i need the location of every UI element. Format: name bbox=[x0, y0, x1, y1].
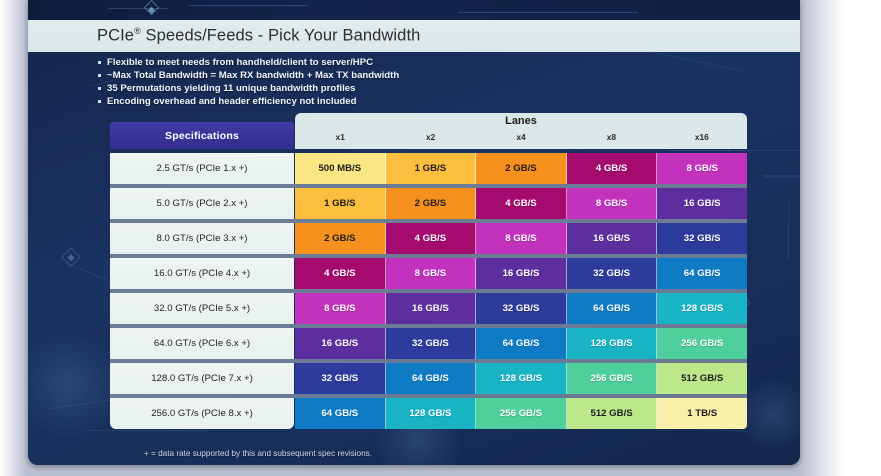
top-accent-band bbox=[28, 0, 800, 20]
bandwidth-cells: 2 GB/S4 GB/S8 GB/S16 GB/S32 GB/S bbox=[295, 223, 747, 254]
bandwidth-cell: 128 GB/S bbox=[476, 363, 567, 394]
bandwidth-cell: 128 GB/S bbox=[386, 398, 477, 429]
table-row: 16.0 GT/s (PCIe 4.x +)4 GB/S8 GB/S16 GB/… bbox=[110, 254, 747, 289]
table-header: Specifications Lanes x1x2x4x8x16 bbox=[110, 113, 747, 149]
bandwidth-cell: 32 GB/S bbox=[657, 223, 747, 254]
bandwidth-cell: 256 GB/S bbox=[567, 363, 658, 394]
bandwidth-cell: 32 GB/S bbox=[386, 328, 477, 359]
list-item: 35 Permutations yielding 11 unique bandw… bbox=[98, 83, 399, 95]
lane-column-header-x1: x1 bbox=[295, 132, 385, 142]
list-item: Encoding overhead and header efficiency … bbox=[98, 96, 399, 108]
list-item: Flexible to meet needs from handheld/cli… bbox=[98, 57, 399, 69]
bandwidth-cell: 500 MB/S bbox=[295, 153, 386, 184]
bandwidth-cell: 16 GB/S bbox=[567, 223, 658, 254]
bandwidth-cell: 256 GB/S bbox=[657, 328, 747, 359]
bandwidth-cell: 64 GB/S bbox=[295, 398, 386, 429]
bandwidth-table: Specifications Lanes x1x2x4x8x16 2.5 GT/… bbox=[110, 113, 747, 429]
bandwidth-cell: 64 GB/S bbox=[657, 258, 747, 289]
registered-mark: ® bbox=[134, 26, 141, 36]
list-item: ~Max Total Bandwidth = Max RX bandwidth … bbox=[98, 70, 399, 82]
page-title: PCIe® Speeds/Feeds - Pick Your Bandwidth bbox=[28, 26, 420, 46]
bandwidth-cells: 16 GB/S32 GB/S64 GB/S128 GB/S256 GB/S bbox=[295, 328, 747, 359]
bandwidth-cell: 1 TB/S bbox=[657, 398, 747, 429]
bandwidth-cell: 8 GB/S bbox=[567, 188, 658, 219]
bandwidth-cells: 8 GB/S16 GB/S32 GB/S64 GB/S128 GB/S bbox=[295, 293, 747, 324]
table-row: 5.0 GT/s (PCIe 2.x +)1 GB/S2 GB/S4 GB/S8… bbox=[110, 184, 747, 219]
specifications-header: Specifications bbox=[110, 122, 294, 149]
spec-cell: 64.0 GT/s (PCIe 6.x +) bbox=[110, 328, 294, 359]
bandwidth-cell: 32 GB/S bbox=[295, 363, 386, 394]
bandwidth-cell: 2 GB/S bbox=[386, 188, 477, 219]
bandwidth-cell: 256 GB/S bbox=[476, 398, 567, 429]
bandwidth-cell: 32 GB/S bbox=[567, 258, 658, 289]
table-body: 2.5 GT/s (PCIe 1.x +)500 MB/S1 GB/S2 GB/… bbox=[110, 149, 747, 429]
lane-column-header-x16: x16 bbox=[657, 132, 747, 142]
bandwidth-cell: 512 GB/S bbox=[657, 363, 747, 394]
bandwidth-cell: 4 GB/S bbox=[567, 153, 658, 184]
bandwidth-cell: 2 GB/S bbox=[476, 153, 567, 184]
footnote: + = data rate supported by this and subs… bbox=[144, 449, 372, 458]
bandwidth-cells: 32 GB/S64 GB/S128 GB/S256 GB/S512 GB/S bbox=[295, 363, 747, 394]
table-row: 32.0 GT/s (PCIe 5.x +)8 GB/S16 GB/S32 GB… bbox=[110, 289, 747, 324]
bandwidth-cells: 64 GB/S128 GB/S256 GB/S512 GB/S1 TB/S bbox=[295, 398, 747, 429]
table-row: 64.0 GT/s (PCIe 6.x +)16 GB/S32 GB/S64 G… bbox=[110, 324, 747, 359]
bandwidth-cell: 128 GB/S bbox=[567, 328, 658, 359]
bandwidth-cell: 1 GB/S bbox=[386, 153, 477, 184]
page-title-rest: Speeds/Feeds - Pick Your Bandwidth bbox=[141, 27, 421, 45]
lane-column-headers: x1x2x4x8x16 bbox=[295, 132, 747, 142]
bandwidth-cell: 8 GB/S bbox=[657, 153, 747, 184]
bandwidth-cell: 16 GB/S bbox=[295, 328, 386, 359]
table-row: 2.5 GT/s (PCIe 1.x +)500 MB/S1 GB/S2 GB/… bbox=[110, 149, 747, 184]
bandwidth-cell: 32 GB/S bbox=[476, 293, 567, 324]
bandwidth-cell: 4 GB/S bbox=[476, 188, 567, 219]
slide: PCIe® Speeds/Feeds - Pick Your Bandwidth… bbox=[28, 0, 800, 465]
page-background: PCIe® Speeds/Feeds - Pick Your Bandwidth… bbox=[0, 0, 881, 476]
bandwidth-cell: 8 GB/S bbox=[386, 258, 477, 289]
bandwidth-cell: 64 GB/S bbox=[476, 328, 567, 359]
bandwidth-cell: 16 GB/S bbox=[657, 188, 747, 219]
lane-column-header-x8: x8 bbox=[566, 132, 656, 142]
bandwidth-cells: 4 GB/S8 GB/S16 GB/S32 GB/S64 GB/S bbox=[295, 258, 747, 289]
bandwidth-cell: 16 GB/S bbox=[476, 258, 567, 289]
spec-cell: 32.0 GT/s (PCIe 5.x +) bbox=[110, 293, 294, 324]
lane-column-header-x4: x4 bbox=[476, 132, 566, 142]
bandwidth-cell: 512 GB/S bbox=[567, 398, 658, 429]
spec-cell: 128.0 GT/s (PCIe 7.x +) bbox=[110, 363, 294, 394]
bandwidth-cell: 128 GB/S bbox=[657, 293, 747, 324]
bullet-text: ~Max Total Bandwidth = Max RX bandwidth … bbox=[107, 70, 399, 81]
bullet-text: 35 Permutations yielding 11 unique bandw… bbox=[107, 83, 355, 94]
title-bar: PCIe® Speeds/Feeds - Pick Your Bandwidth bbox=[28, 20, 800, 52]
spec-cell: 256.0 GT/s (PCIe 8.x +) bbox=[110, 398, 294, 429]
spec-cell: 5.0 GT/s (PCIe 2.x +) bbox=[110, 188, 294, 219]
bandwidth-cell: 2 GB/S bbox=[295, 223, 386, 254]
bandwidth-cell: 16 GB/S bbox=[386, 293, 477, 324]
table-row: 8.0 GT/s (PCIe 3.x +)2 GB/S4 GB/S8 GB/S1… bbox=[110, 219, 747, 254]
bullet-text: Encoding overhead and header efficiency … bbox=[107, 96, 356, 107]
lane-column-header-x2: x2 bbox=[385, 132, 475, 142]
spec-cell: 16.0 GT/s (PCIe 4.x +) bbox=[110, 258, 294, 289]
lanes-header-label: Lanes bbox=[295, 115, 747, 127]
spec-cell: 8.0 GT/s (PCIe 3.x +) bbox=[110, 223, 294, 254]
bandwidth-cell: 8 GB/S bbox=[295, 293, 386, 324]
bandwidth-cell: 1 GB/S bbox=[295, 188, 386, 219]
bandwidth-cells: 1 GB/S2 GB/S4 GB/S8 GB/S16 GB/S bbox=[295, 188, 747, 219]
table-row: 128.0 GT/s (PCIe 7.x +)32 GB/S64 GB/S128… bbox=[110, 359, 747, 394]
bullet-text: Flexible to meet needs from handheld/cli… bbox=[107, 57, 373, 68]
bandwidth-cell: 64 GB/S bbox=[567, 293, 658, 324]
spec-cell: 2.5 GT/s (PCIe 1.x +) bbox=[110, 153, 294, 184]
bandwidth-cell: 8 GB/S bbox=[476, 223, 567, 254]
table-row: 256.0 GT/s (PCIe 8.x +)64 GB/S128 GB/S25… bbox=[110, 394, 747, 429]
bandwidth-cell: 4 GB/S bbox=[386, 223, 477, 254]
page-title-main: PCIe bbox=[97, 27, 134, 45]
bandwidth-cell: 4 GB/S bbox=[295, 258, 386, 289]
lanes-header-group: Lanes x1x2x4x8x16 bbox=[295, 113, 747, 149]
bandwidth-cell: 64 GB/S bbox=[386, 363, 477, 394]
bullet-list: Flexible to meet needs from handheld/cli… bbox=[98, 57, 399, 109]
bandwidth-cells: 500 MB/S1 GB/S2 GB/S4 GB/S8 GB/S bbox=[295, 153, 747, 184]
